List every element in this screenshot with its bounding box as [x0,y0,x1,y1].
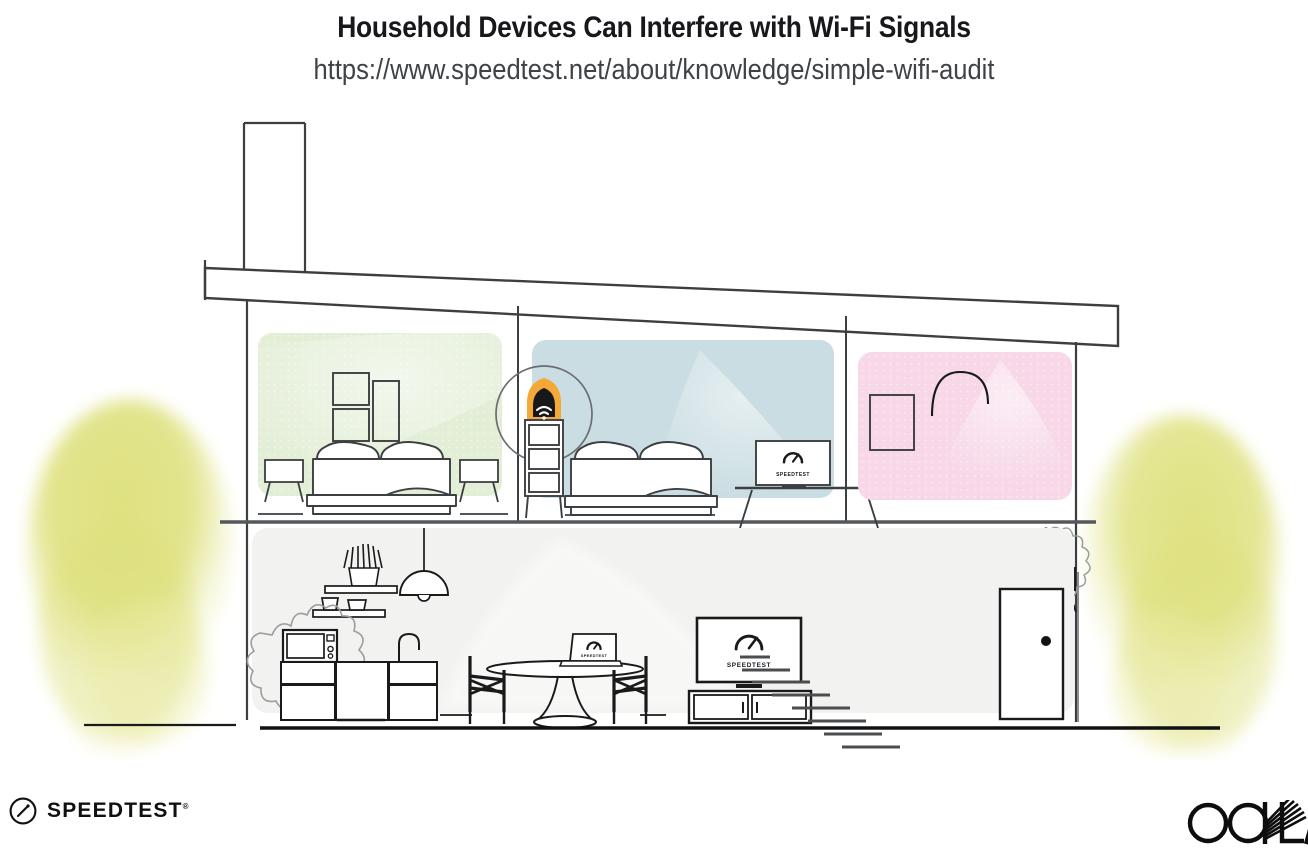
speedtest-wordmark: SPEEDTEST® [47,799,189,823]
foliage-right [1084,415,1280,757]
monitor-blue: SPEEDTEST [756,441,830,489]
shelving-unit [525,420,563,518]
speedtest-logo: SPEEDTEST® [8,796,189,826]
screen-label-blue: SPEEDTEST [776,472,810,478]
entry-door[interactable] [1000,589,1063,719]
footer: SPEEDTEST® [0,780,1308,861]
foliage-left [28,400,232,754]
poster-page: Household Devices Can Interfere with Wi-… [0,0,1308,861]
chimney [244,123,305,272]
microwave [283,630,337,662]
house-illustration: SPEEDTEST [0,110,1308,760]
room-bedroom-blue: SPEEDTEST [532,340,887,528]
header: Household Devices Can Interfere with Wi-… [0,0,1308,87]
room-living-kitchen: SPEEDTEST [247,528,1078,747]
room-bedroom-green [258,333,508,514]
kitchen-counter [281,662,437,720]
shelf-upper [325,586,397,593]
source-url: https://www.speedtest.net/about/knowledg… [78,45,1229,87]
door-knob-icon [1041,636,1051,646]
screen-label-tv: SPEEDTEST [727,662,771,669]
speedtest-trademark: ® [183,802,189,811]
bed-blue [565,442,717,515]
ookla-logo [1186,800,1308,851]
tv: SPEEDTEST [697,618,801,688]
ookla-k-rays [1265,800,1306,839]
page-title: Household Devices Can Interfere with Wi-… [78,0,1229,45]
speedtest-gauge-icon [8,796,38,826]
ground-line [84,725,1220,728]
bed-green [307,442,456,514]
screen-label-laptop: SPEEDTEST [581,653,608,658]
